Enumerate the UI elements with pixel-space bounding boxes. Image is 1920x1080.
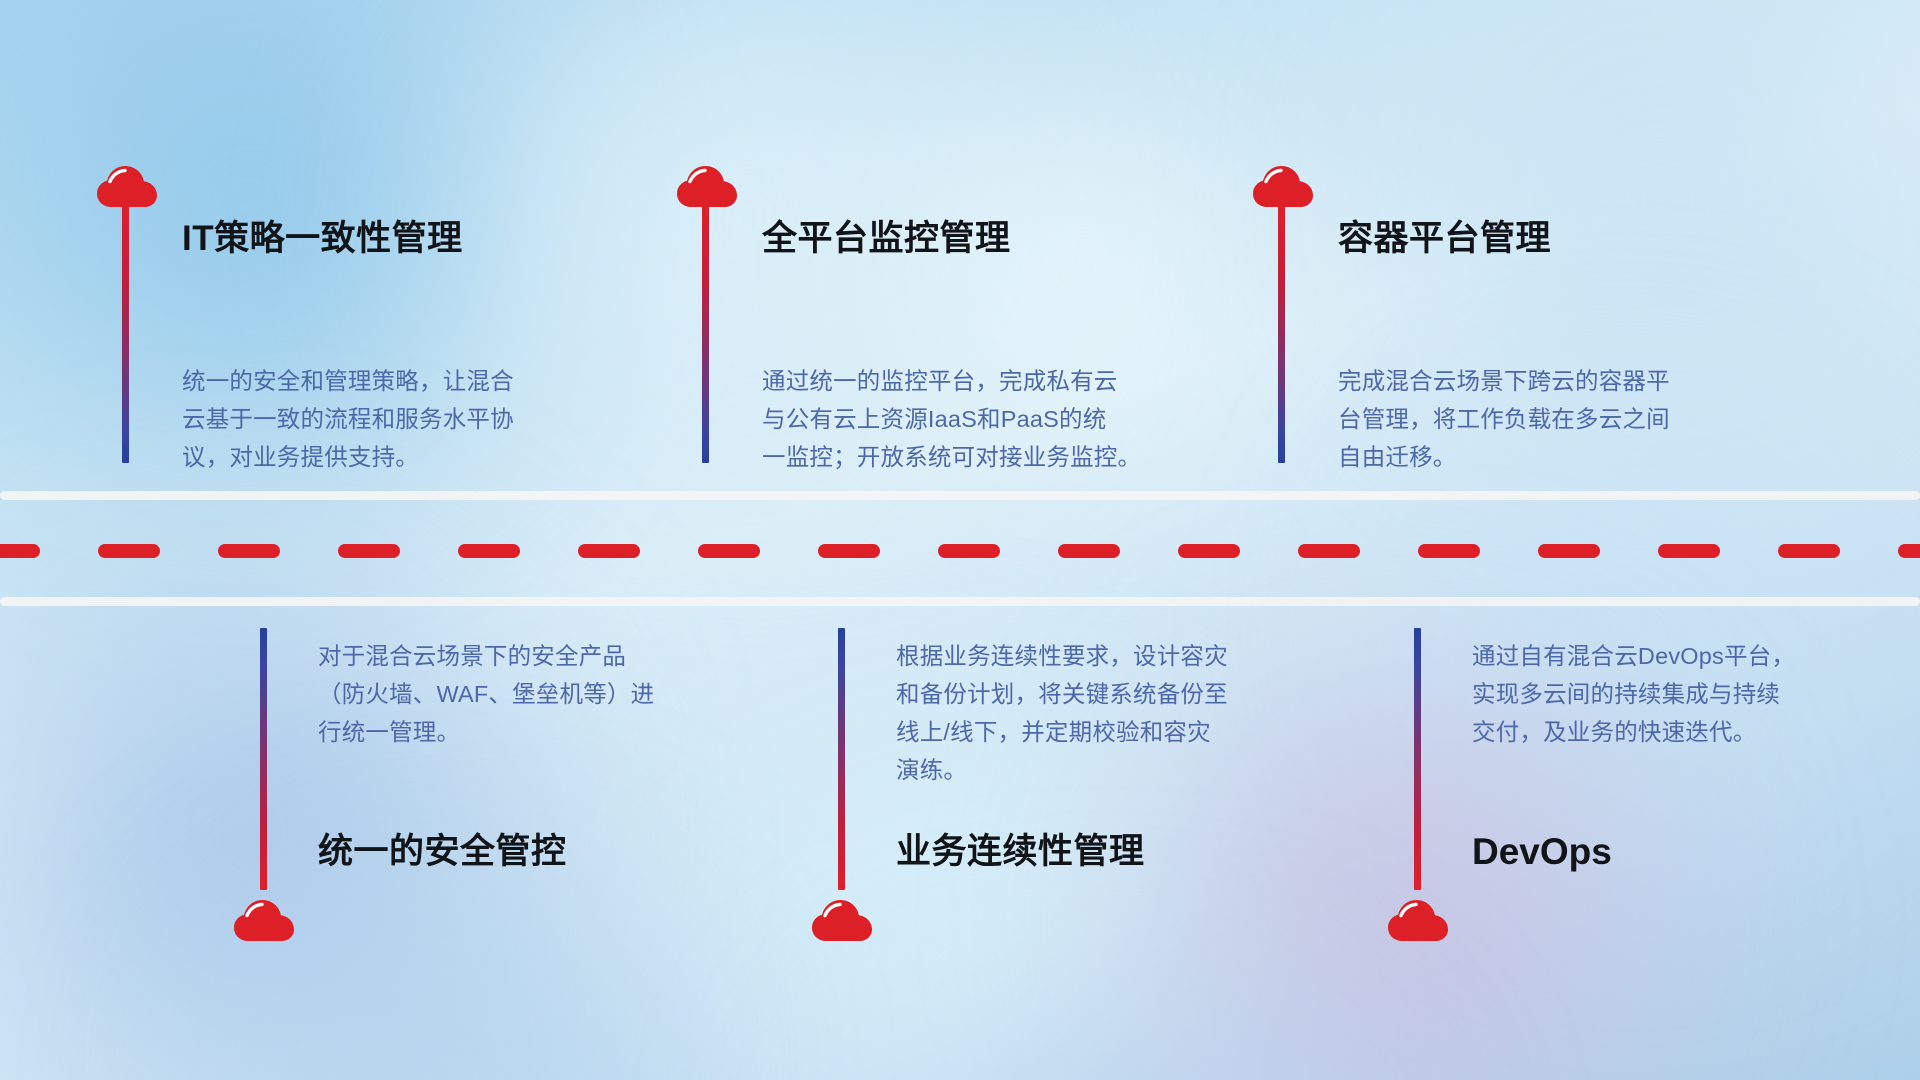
feature-heading: DevOps [1472,832,1612,873]
divider-dash-segment [218,544,280,558]
feature-heading: IT策略一致性管理 [182,220,463,259]
feature-description: 通过自有混合云DevOps平台， 实现多云间的持续集成与持续 交付，及业务的快速… [1472,637,1902,751]
divider-dash-segment [1298,544,1360,558]
divider-dash-segment [1178,544,1240,558]
divider-dash-segment [458,544,520,558]
divider-dash-segment [698,544,760,558]
divider-dash-segment [338,544,400,558]
divider-dash-segment [1898,544,1920,558]
feature-description: 根据业务连续性要求，设计容灾 和备份计划，将关键系统备份至 线上/线下，并定期校… [896,637,1336,789]
divider-dashed-line [0,544,1920,558]
feature-description: 统一的安全和管理策略，让混合 云基于一致的流程和服务水平协 议，对业务提供支持。 [182,362,622,476]
cloud-icon [233,895,295,943]
cloud-icon [676,161,738,209]
connector-line [1414,628,1421,890]
divider-dash-segment [1058,544,1120,558]
cloud-icon [1387,895,1449,943]
divider-dash-segment [1418,544,1480,558]
connector-line [122,205,129,463]
connector-line [702,205,709,463]
divider-dash-segment [1658,544,1720,558]
divider-dash-segment [818,544,880,558]
feature-heading: 业务连续性管理 [896,833,1145,872]
feature-description: 对于混合云场景下的安全产品 （防火墙、WAF、堡垒机等）进 行统一管理。 [318,637,748,751]
infographic-canvas: IT策略一致性管理 统一的安全和管理策略，让混合 云基于一致的流程和服务水平协 … [0,0,1920,1080]
divider-dash-segment [0,544,40,558]
divider-dash-segment [938,544,1000,558]
cloud-icon [1252,161,1314,209]
cloud-icon [96,161,158,209]
feature-heading: 全平台监控管理 [762,220,1011,259]
divider-dash-segment [98,544,160,558]
divider-dash-segment [1538,544,1600,558]
connector-line [838,628,845,890]
divider-dash-segment [578,544,640,558]
connector-line [1278,205,1285,463]
divider-line-upper [0,491,1920,500]
connector-line [260,628,267,890]
feature-description: 完成混合云场景下跨云的容器平 台管理，将工作负载在多云之间 自由迁移。 [1338,362,1788,476]
feature-heading: 统一的安全管控 [318,833,567,872]
feature-heading: 容器平台管理 [1338,220,1551,259]
cloud-icon [811,895,873,943]
divider-dash-segment [1778,544,1840,558]
divider-line-lower [0,597,1920,606]
feature-description: 通过统一的监控平台，完成私有云 与公有云上资源IaaS和PaaS的统 一监控；开… [762,362,1222,476]
